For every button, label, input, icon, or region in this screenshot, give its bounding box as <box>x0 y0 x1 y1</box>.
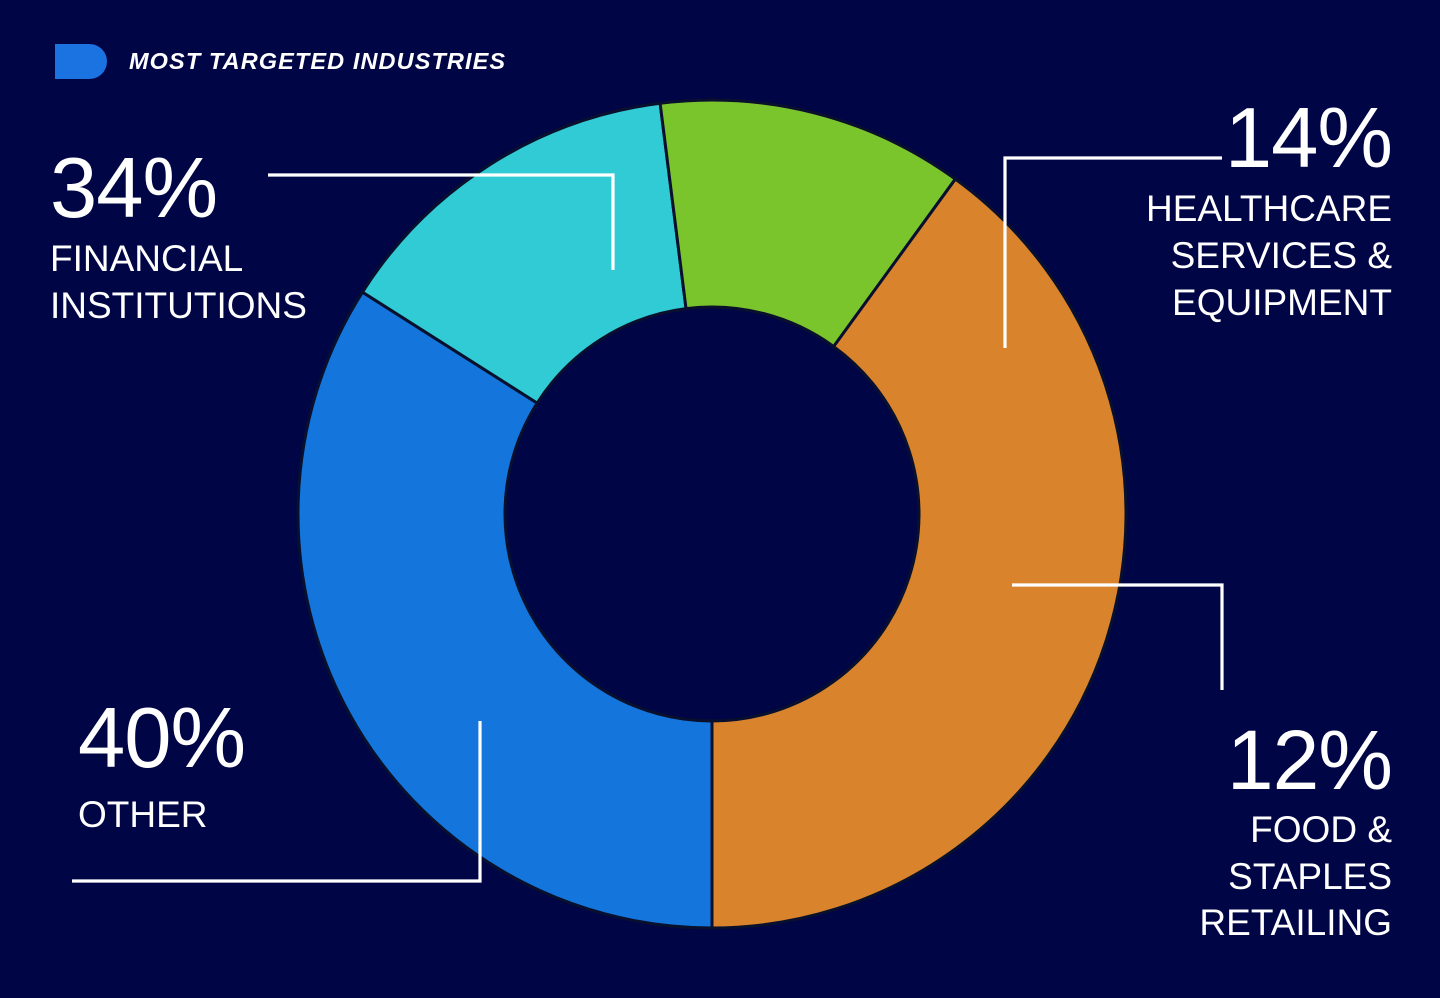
infographic-page: MOST TARGETED INDUSTRIES 34% FINANCIAL I… <box>0 0 1440 998</box>
percent-value-healthcare: 14% <box>1146 100 1392 178</box>
donut-slice-financial[interactable] <box>298 292 712 928</box>
category-label-financial: FINANCIAL INSTITUTIONS <box>50 236 307 330</box>
category-label-healthcare: HEALTHCARE SERVICES & EQUIPMENT <box>1146 186 1392 327</box>
percent-value-food: 12% <box>1199 722 1392 799</box>
callout-healthcare-services: 14% HEALTHCARE SERVICES & EQUIPMENT <box>1146 100 1392 327</box>
callout-financial-institutions: 34% FINANCIAL INSTITUTIONS <box>50 150 307 330</box>
category-label-food: FOOD & STAPLES RETAILING <box>1199 807 1392 947</box>
donut-slices <box>298 100 1126 928</box>
callout-other: 40% OTHER <box>78 700 245 839</box>
percent-value-financial: 34% <box>50 150 307 228</box>
category-label-other: OTHER <box>78 792 245 839</box>
percent-value-other: 40% <box>78 700 245 778</box>
callout-food-staples-retailing: 12% FOOD & STAPLES RETAILING <box>1199 722 1392 947</box>
